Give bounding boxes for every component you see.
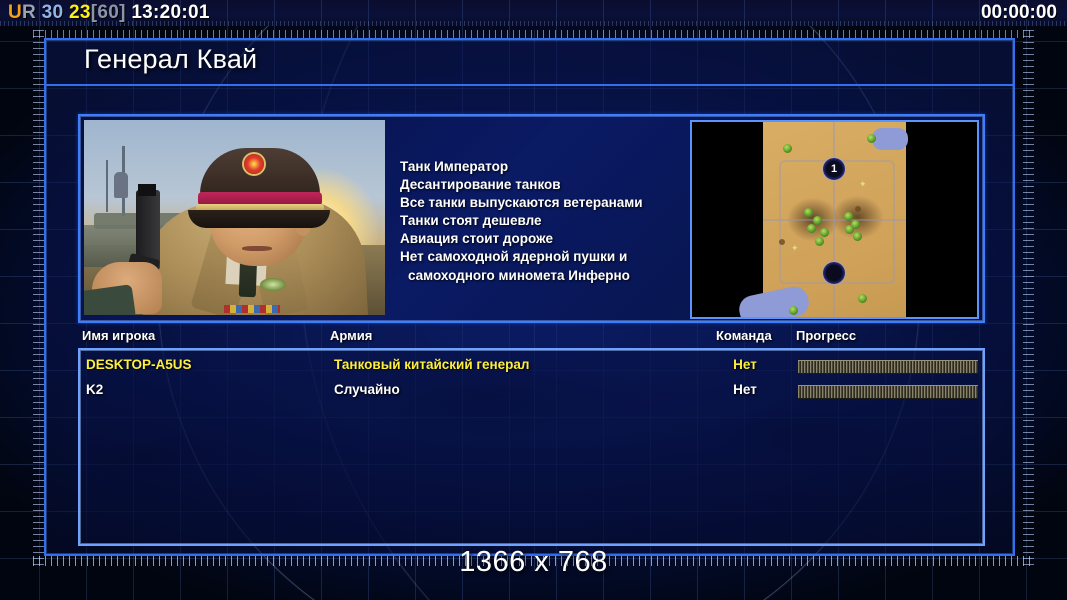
player-name: K2 — [86, 382, 103, 397]
portrait-cap-emblem-icon — [244, 154, 264, 174]
portrait-pistol-muzzle — [138, 184, 156, 196]
minimap-tree — [845, 225, 854, 234]
header-team: Команда — [716, 328, 772, 343]
fps-prefix-r: R — [22, 2, 36, 23]
general-portrait — [84, 120, 385, 315]
minimap-spawn-point-2 — [823, 262, 845, 284]
player-team: Нет — [716, 382, 774, 397]
ruler-left — [33, 30, 44, 566]
minimap-tree — [867, 134, 876, 143]
minimap-letterbox: ✦ ✦ 1 — [692, 122, 977, 317]
player-progress-bar — [798, 360, 978, 374]
ruler-right — [1023, 30, 1034, 566]
fps-counter: UR 30 23[60] 13:20:01 — [8, 1, 210, 25]
player-progress-bar — [798, 385, 978, 399]
header-progress: Прогресс — [796, 328, 856, 343]
minimap-rock — [855, 206, 861, 212]
minimap-preview: ✦ ✦ 1 — [690, 120, 979, 319]
minimap-tree — [844, 212, 853, 221]
player-list: DESKTOP-A5US Танковый китайский генерал … — [78, 348, 985, 546]
portrait-cap-visor — [188, 210, 330, 228]
fps-prefix-u: U — [8, 2, 22, 23]
portrait-mouth — [242, 246, 272, 251]
fps-current: 23 — [69, 2, 91, 23]
minimap-tree — [789, 306, 798, 315]
table-row: DESKTOP-A5US Танковый китайский генерал … — [80, 356, 983, 378]
minimap-tree — [807, 224, 816, 233]
minimap-tree — [783, 144, 792, 153]
table-row: K2 Случайно Нет — [80, 381, 983, 403]
minimap-tree — [815, 237, 824, 246]
resolution-overlay: 1366 x 768 — [0, 546, 1067, 579]
minimap-tree — [804, 208, 813, 217]
player-army: Случайно — [334, 382, 400, 397]
page-title: Генерал Квай — [84, 44, 257, 75]
minimap-tree — [820, 228, 829, 237]
ruler-top — [33, 30, 1034, 38]
fps-bracket: [60] — [91, 2, 126, 23]
player-team: Нет — [716, 357, 774, 372]
player-army: Танковый китайский генерал — [334, 357, 530, 372]
system-clock: 13:20:01 — [131, 2, 209, 23]
header-army: Армия — [330, 328, 372, 343]
minimap-prop-icon: ✦ — [859, 180, 867, 189]
minimap-spawn-label — [823, 262, 845, 284]
general-info-frame: Танк Император Десантирование танков Все… — [78, 114, 985, 323]
minimap-spawn-point-1: 1 — [823, 158, 845, 180]
minimap-spawn-label: 1 — [823, 158, 845, 180]
portrait-medal-ribbons — [224, 305, 280, 313]
portrait-insignia-badge — [260, 278, 286, 291]
player-list-header: Имя игрока Армия Команда Прогресс — [78, 328, 981, 348]
minimap-prop-icon: ✦ — [791, 244, 799, 253]
loading-panel: Генерал Квай — [44, 38, 1015, 556]
portrait-sleeve-cuff — [84, 284, 136, 315]
portrait-pole-secondary — [106, 160, 108, 212]
minimap-water-north — [872, 128, 908, 150]
game-screen: UR 30 23[60] 13:20:01 00:00:00 Генерал К… — [0, 0, 1067, 600]
match-timer: 00:00:00 — [981, 1, 1057, 25]
panel-title-bar: Генерал Квай — [46, 40, 1013, 86]
minimap-tree — [813, 216, 822, 225]
minimap-rock — [779, 239, 785, 245]
loading-panel-frame: Генерал Квай — [33, 30, 1034, 566]
minimap-tree — [858, 294, 867, 303]
header-player-name: Имя игрока — [82, 328, 155, 343]
minimap-water-south — [737, 284, 812, 319]
minimap-terrain: ✦ ✦ 1 — [763, 122, 906, 317]
status-bar: UR 30 23[60] 13:20:01 00:00:00 — [0, 0, 1067, 26]
portrait-background-figure — [114, 172, 128, 198]
minimap-tree — [853, 232, 862, 241]
player-name: DESKTOP-A5US — [86, 357, 192, 372]
fps-limit: 30 — [42, 2, 64, 23]
